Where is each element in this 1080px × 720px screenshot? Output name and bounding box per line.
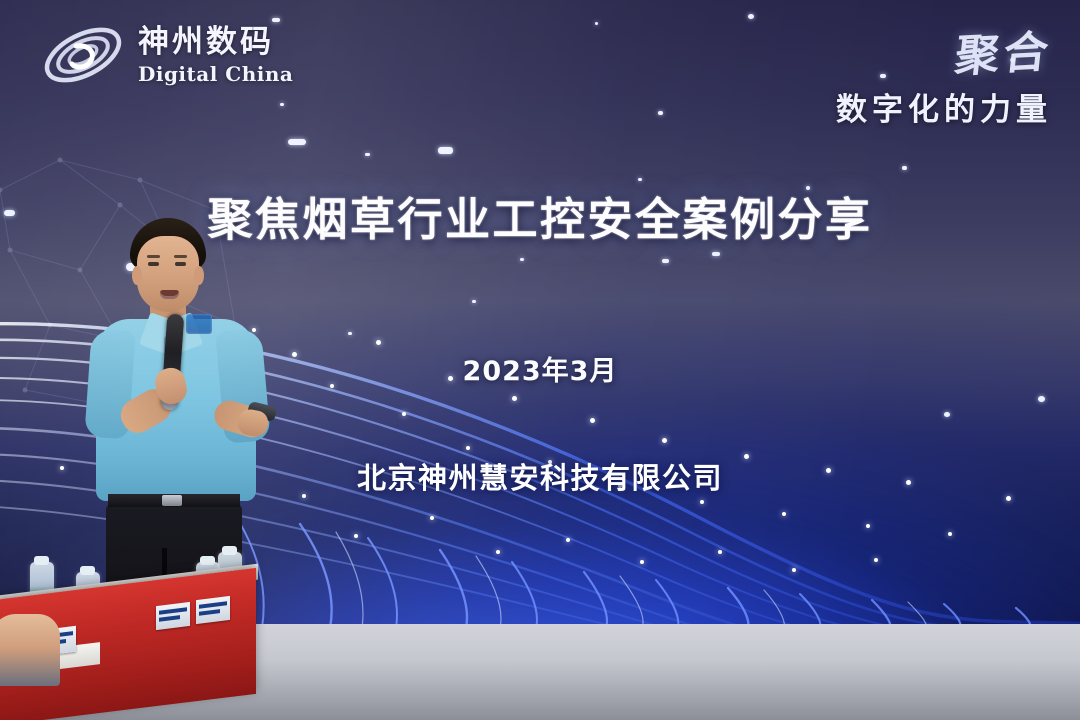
bottle-cap [200, 556, 215, 565]
slogan-brush-text: 聚合 [952, 16, 1055, 85]
ear-left [132, 266, 142, 285]
name-card-line [159, 607, 187, 614]
event-slogan: 聚合 数字化的力量 [836, 18, 1052, 129]
eye-right [175, 262, 186, 266]
bottle-cap [80, 566, 95, 575]
eye-left [148, 262, 159, 266]
logo-name-en: Digital China [138, 64, 293, 84]
digital-china-logo: 神州数码 Digital China [40, 22, 293, 88]
name-card-line [199, 609, 220, 616]
seated-panel-guest [0, 614, 60, 686]
name-card-line [159, 615, 180, 622]
slogan-subtitle: 数字化的力量 [836, 84, 1052, 129]
bottle-cap [34, 556, 49, 565]
swirl-logo-icon [40, 22, 126, 88]
conference-photo: 聚焦烟草行业工控安全案例分享 2023年3月 北京神州慧安科技有限公司 神州数码… [0, 0, 1080, 720]
eyebrow-left [147, 255, 160, 258]
name-card [156, 602, 190, 630]
face [137, 236, 199, 312]
name-card [196, 596, 230, 624]
shirt-chest-logo-icon [186, 314, 212, 334]
name-card-line [199, 601, 227, 608]
ear-right [194, 266, 204, 285]
eyebrow-right [174, 255, 187, 258]
bottle-cap [222, 546, 237, 555]
logo-name-cn: 神州数码 [138, 27, 293, 58]
belt-buckle [162, 495, 182, 506]
mouth [160, 290, 179, 299]
